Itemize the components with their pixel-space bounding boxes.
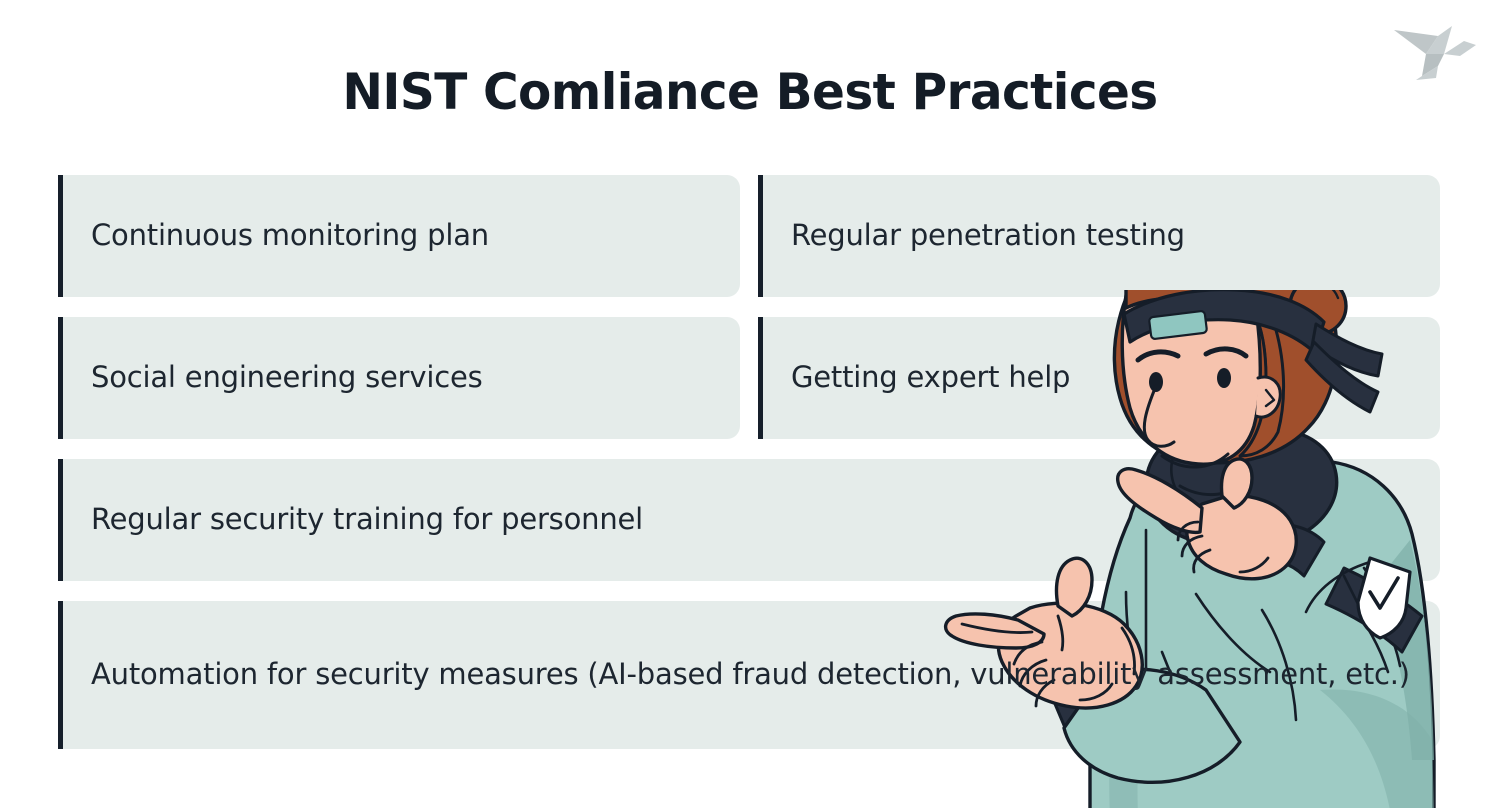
practice-card-label: Social engineering services	[58, 357, 509, 398]
practice-card-security-training[interactable]: Regular security training for personnel	[58, 459, 1440, 581]
practice-card-automation[interactable]: Automation for security measures (AI-bas…	[58, 601, 1440, 749]
practice-card-expert-help[interactable]: Getting expert help	[758, 317, 1440, 439]
practice-card-label: Getting expert help	[758, 357, 1096, 398]
card-row-2: Social engineering services Getting expe…	[58, 317, 1440, 439]
practice-card-label: Continuous monitoring plan	[58, 215, 515, 256]
card-row-4: Automation for security measures (AI-bas…	[58, 601, 1440, 749]
practice-card-continuous-monitoring[interactable]: Continuous monitoring plan	[58, 175, 740, 297]
best-practices-list: Continuous monitoring plan Regular penet…	[58, 175, 1440, 749]
practice-card-label: Regular penetration testing	[758, 215, 1211, 256]
practice-card-social-engineering[interactable]: Social engineering services	[58, 317, 740, 439]
practice-card-label: Regular security training for personnel	[58, 499, 669, 540]
practice-card-penetration-testing[interactable]: Regular penetration testing	[758, 175, 1440, 297]
card-row-3: Regular security training for personnel	[58, 459, 1440, 581]
infographic-canvas: NIST Comliance Best Practices Continuous…	[0, 0, 1500, 808]
card-row-1: Continuous monitoring plan Regular penet…	[58, 175, 1440, 297]
practice-card-label: Automation for security measures (AI-bas…	[58, 654, 1436, 695]
page-title: NIST Comliance Best Practices	[23, 66, 1478, 119]
